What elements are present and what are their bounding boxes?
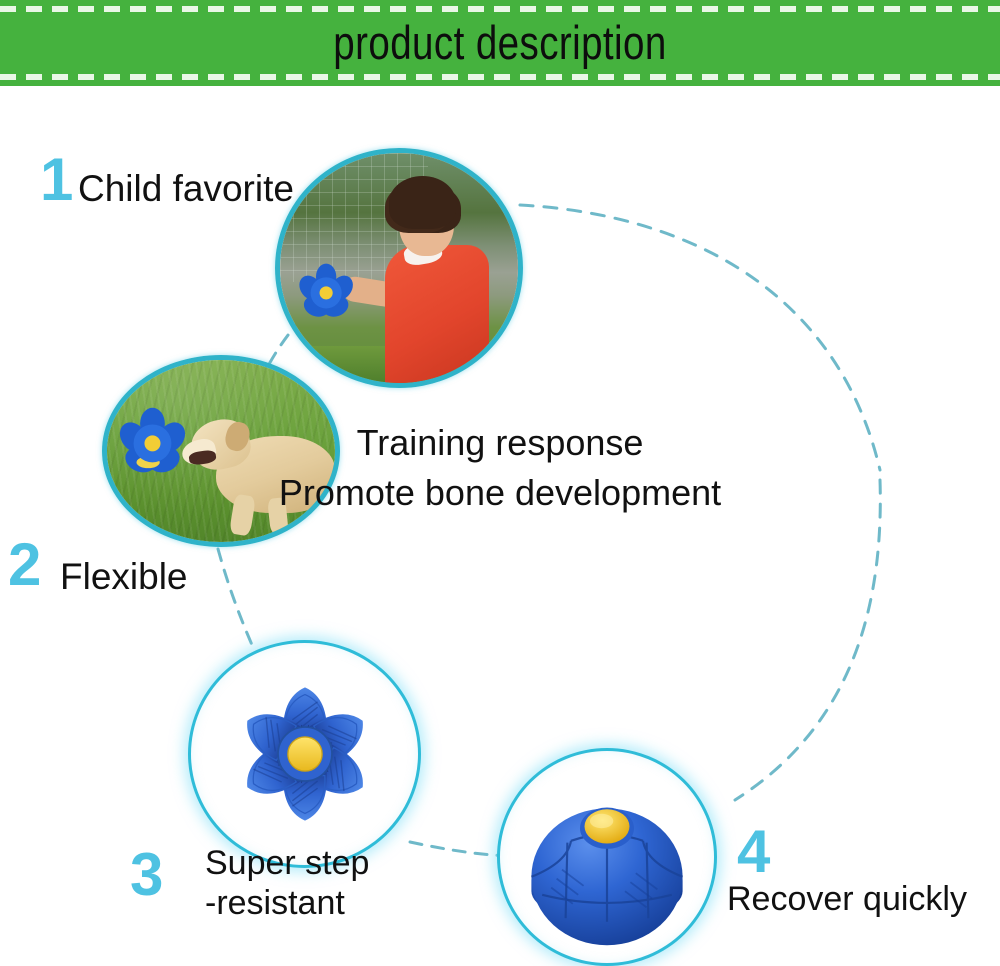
flying-disc-icon bbox=[294, 263, 358, 323]
boy-torso bbox=[385, 245, 490, 388]
feature-number-1: 1 bbox=[40, 150, 73, 210]
feature-label-2: Flexible bbox=[60, 556, 188, 597]
header-banner: product description bbox=[0, 0, 1000, 86]
center-benefit-text: Training response Promote bone developme… bbox=[279, 418, 721, 517]
center-text-line-1: Training response bbox=[279, 418, 721, 468]
feature-label-3-line-1: Super step bbox=[205, 843, 369, 883]
boy-hair bbox=[389, 176, 456, 229]
product-description-infographic: product description bbox=[0, 0, 1000, 966]
feature-label-4: Recover quickly bbox=[727, 880, 967, 918]
dome-ball-icon bbox=[517, 767, 697, 947]
flower-disc-icon bbox=[215, 664, 395, 844]
feature-label-3: Super step -resistant bbox=[205, 843, 369, 923]
flower-disc-product bbox=[191, 643, 418, 865]
feature-number-2: 2 bbox=[8, 535, 41, 595]
feature-image-child-favorite bbox=[275, 148, 523, 388]
arc-bottom-right bbox=[735, 480, 880, 800]
dome-ball-product bbox=[500, 751, 714, 963]
feature-label-1: Child favorite bbox=[78, 168, 294, 209]
feature-image-recover-quickly bbox=[497, 748, 717, 966]
feature-image-super-step-resistant bbox=[188, 640, 421, 868]
flying-disc-icon bbox=[116, 407, 189, 480]
arc-two-to-three bbox=[218, 549, 252, 645]
feature-number-4: 4 bbox=[737, 822, 770, 882]
page-title: product description bbox=[90, 8, 910, 78]
feature-number-3: 3 bbox=[130, 845, 163, 905]
center-text-line-2: Promote bone development bbox=[279, 468, 721, 518]
feature-label-3-line-2: -resistant bbox=[205, 883, 369, 923]
